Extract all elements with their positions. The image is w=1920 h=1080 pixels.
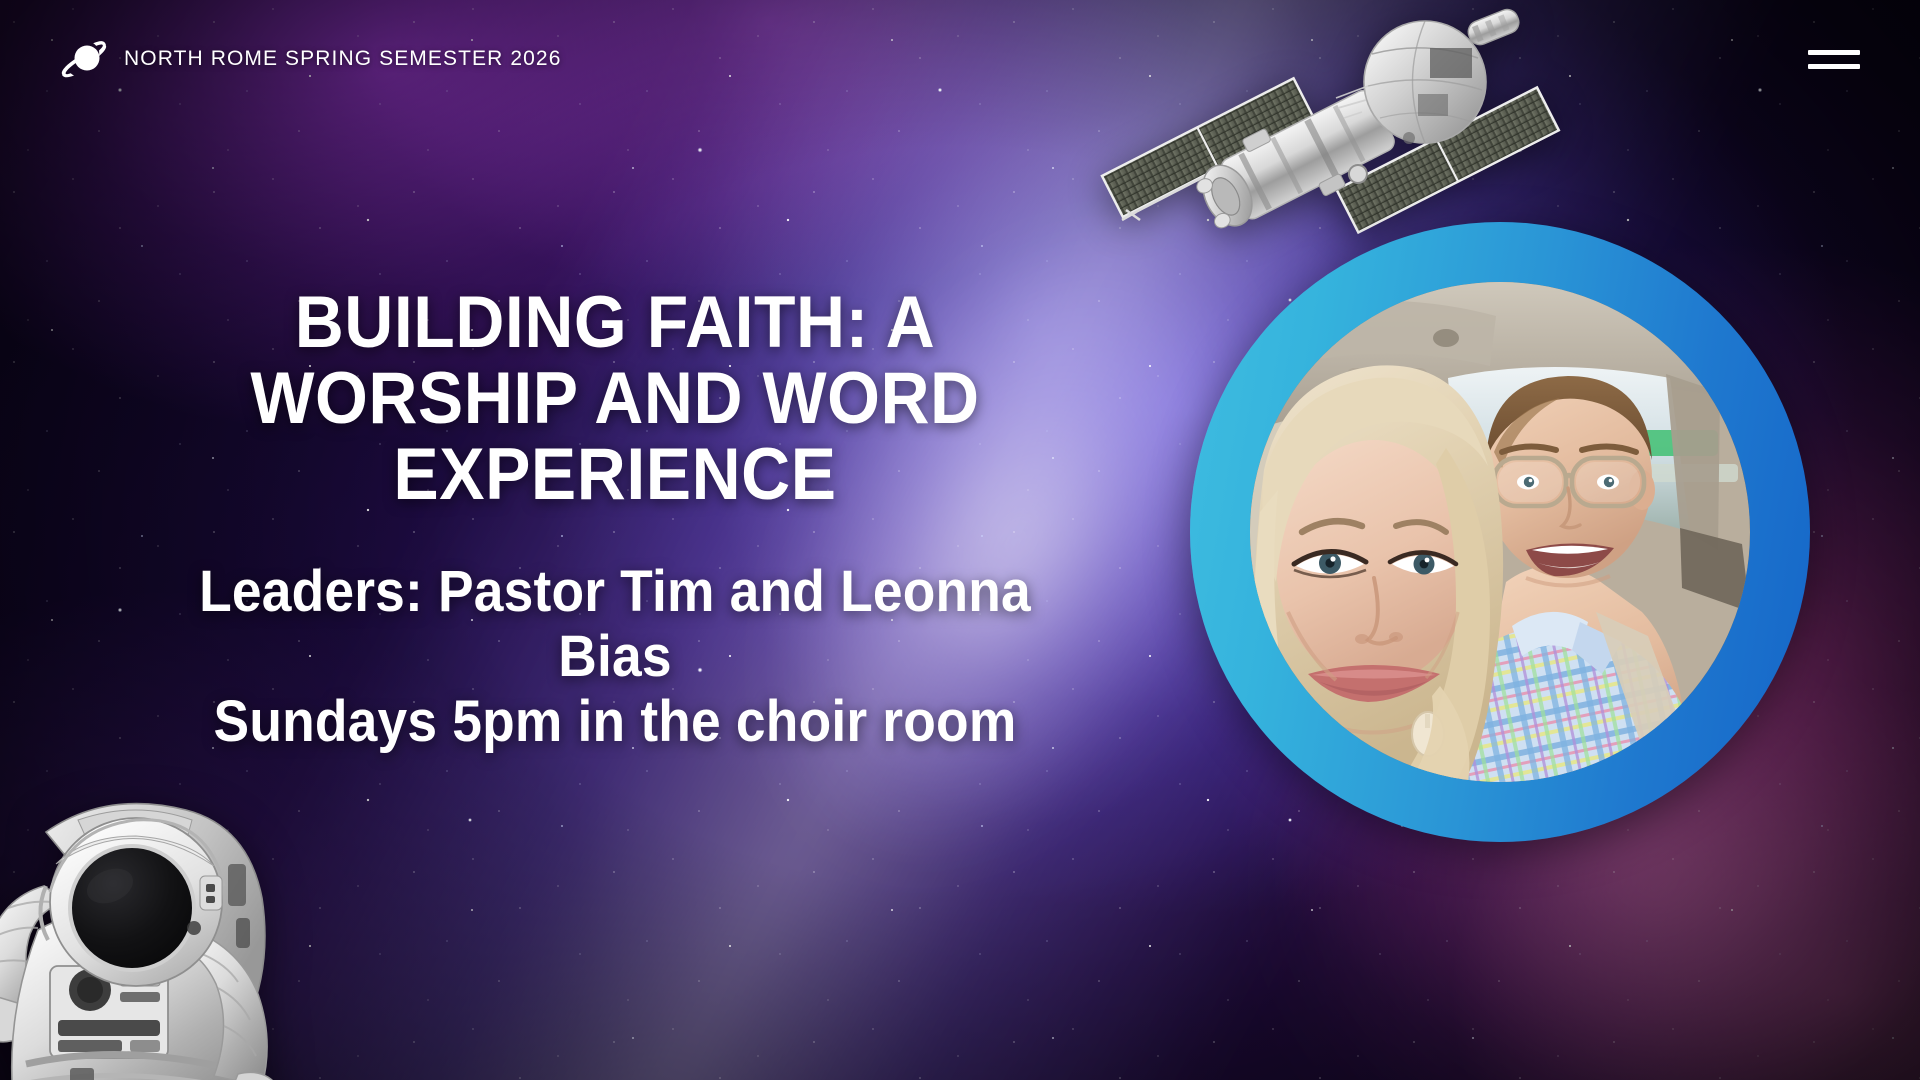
portrait-photo (1250, 282, 1750, 782)
hamburger-menu-icon[interactable]: Menu (1808, 39, 1860, 79)
planet-saturn-icon (60, 37, 108, 81)
brand-title: NORTH ROME SPRING SEMESTER 2026 (124, 47, 561, 71)
slide-canvas: NORTH ROME SPRING SEMESTER 2026 Menu BUI… (0, 0, 1920, 1080)
leaders-portrait (1190, 222, 1810, 842)
hero-title: BUILDING FAITH: A WORSHIP AND WORD EXPER… (155, 285, 1076, 513)
portrait-image (1250, 282, 1750, 782)
site-header: NORTH ROME SPRING SEMESTER 2026 Menu (0, 0, 1920, 118)
hero-subtitle: Leaders: Pastor Tim and Leonna Bias Sund… (160, 560, 1071, 755)
menu-label: Menu (1808, 57, 1860, 62)
menu-bar-bottom (1808, 64, 1860, 69)
menu-bar-top (1808, 50, 1860, 55)
hero-section: BUILDING FAITH: A WORSHIP AND WORD EXPER… (0, 0, 1200, 1080)
brand-link[interactable]: NORTH ROME SPRING SEMESTER 2026 (60, 37, 561, 81)
hero-subtitle-line-1: Leaders: Pastor Tim and Leonna Bias (160, 560, 1071, 690)
hero-subtitle-line-2: Sundays 5pm in the choir room (160, 690, 1071, 755)
